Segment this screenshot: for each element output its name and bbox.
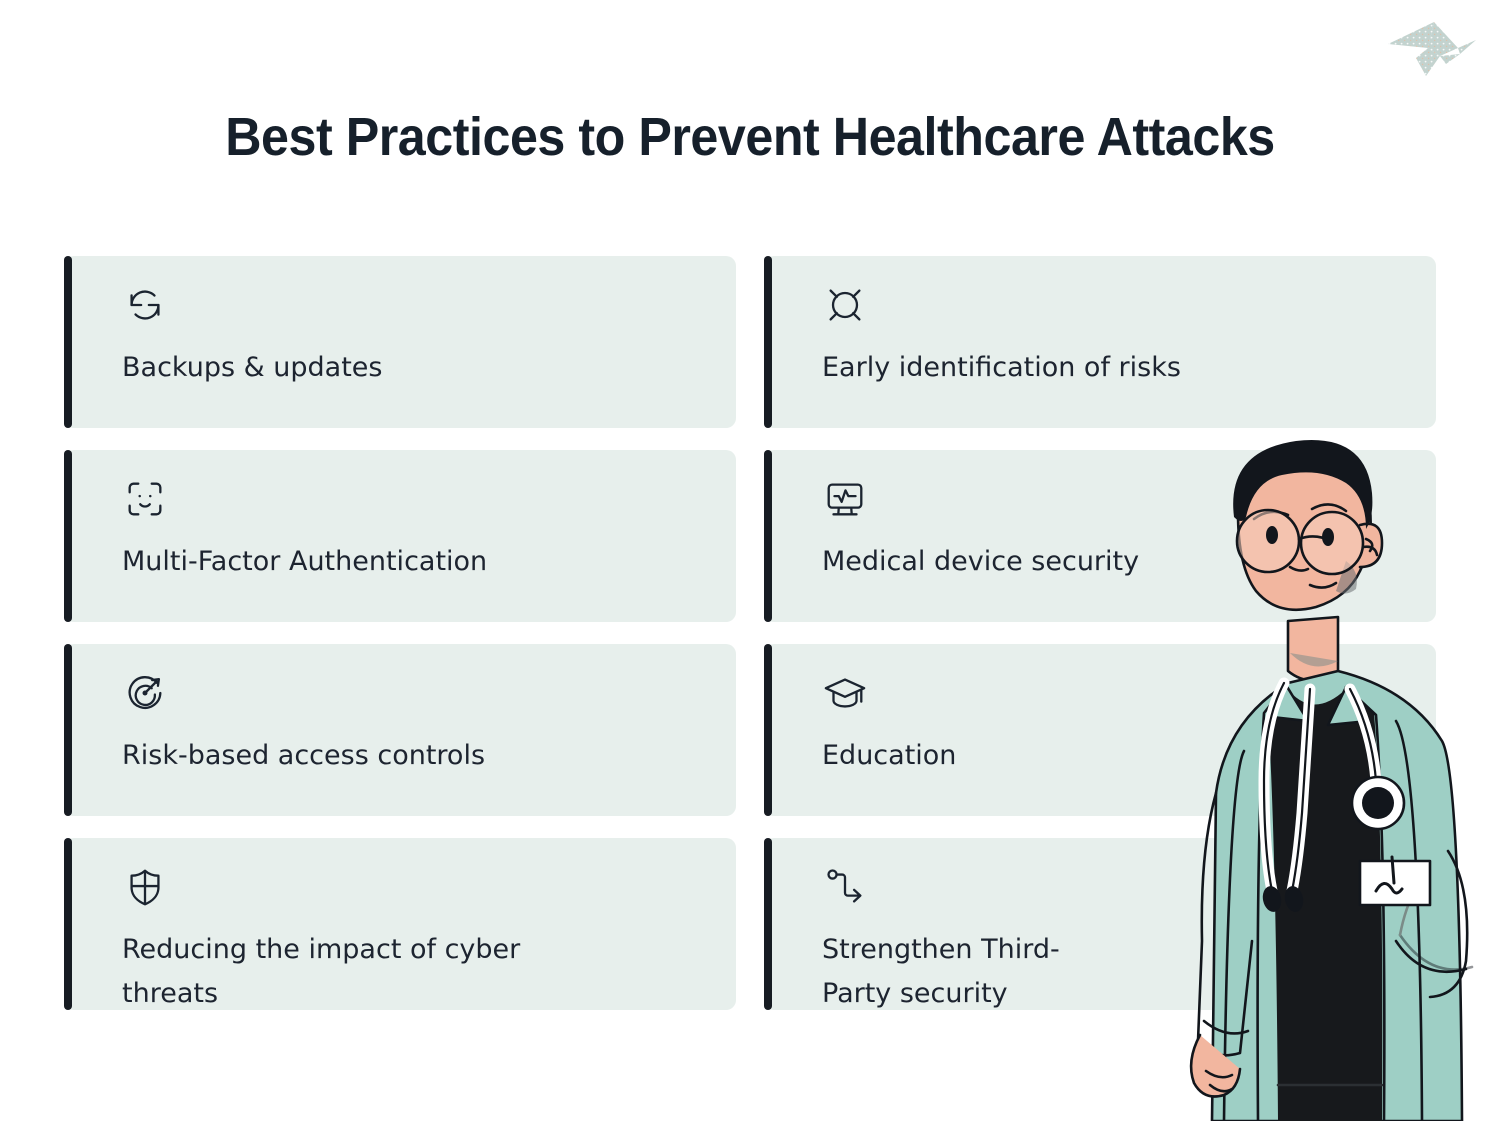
scan-circle-icon [822,282,868,328]
practice-card-third-party-security[interactable]: Strengthen Third- Party security [764,838,1436,1010]
accent-bar [64,838,72,1010]
practice-card-label: Multi-Factor Authentication [122,540,716,584]
practice-card-medical-device-security[interactable]: Medical device security [764,450,1436,622]
practice-card-early-identification[interactable]: Early identification of risks [764,256,1436,428]
practice-card-education[interactable]: Education [764,644,1436,816]
practice-card-risk-based-access[interactable]: Risk-based access controls [64,644,736,816]
face-scan-icon [122,476,168,522]
practices-grid: Backups & updates Early identification o… [64,256,1436,1010]
graduation-cap-icon [822,670,868,716]
accent-bar [64,644,72,816]
accent-bar [64,450,72,622]
node-arrow-flow-icon [822,864,868,910]
practice-card-label: Reducing the impact of cyber threats [122,928,716,1015]
practice-card-reducing-impact[interactable]: Reducing the impact of cyber threats [64,838,736,1010]
accent-bar [764,838,772,1010]
practice-card-label: Risk-based access controls [122,734,716,778]
accent-bar [64,256,72,428]
page-title: Best Practices to Prevent Healthcare Att… [192,102,1308,173]
infographic-page: Best Practices to Prevent Healthcare Att… [0,0,1500,1121]
practice-card-label: Strengthen Third- Party security [822,928,1416,1015]
accent-bar [764,256,772,428]
shield-icon [122,864,168,910]
practice-card-backups-updates[interactable]: Backups & updates [64,256,736,428]
origami-bird-logo [1382,18,1478,80]
monitor-heartbeat-icon [822,476,868,522]
accent-bar [764,450,772,622]
practice-card-label: Backups & updates [122,346,716,390]
practice-card-label: Education [822,734,1416,778]
accent-bar [764,644,772,816]
practice-card-mfa[interactable]: Multi-Factor Authentication [64,450,736,622]
practice-card-label: Medical device security [822,540,1416,584]
target-dart-icon [122,670,168,716]
practice-card-label: Early identification of risks [822,346,1416,390]
refresh-sync-icon [122,282,168,328]
